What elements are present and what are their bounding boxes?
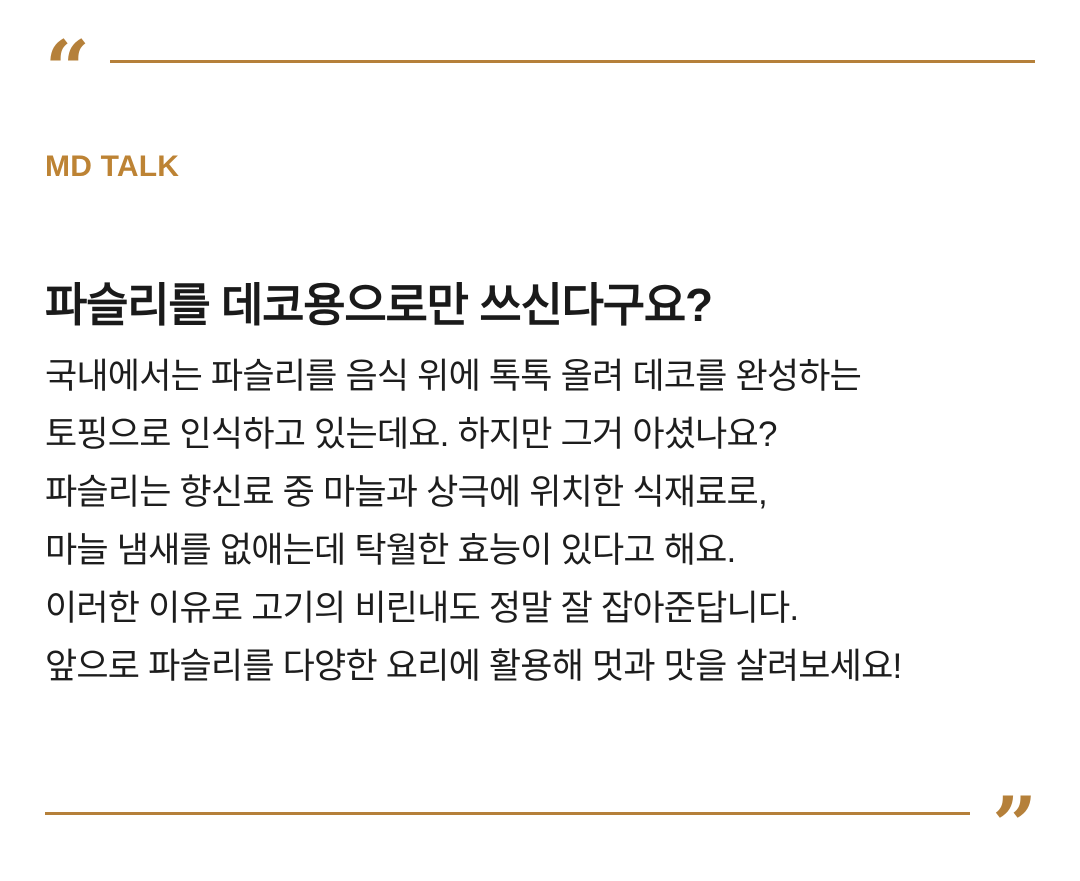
body-line: 마늘 냄새를 없애는데 탁월한 효능이 있다고 해요.	[45, 522, 1045, 580]
body-line: 국내에서는 파슬리를 음식 위에 톡톡 올려 데코를 완성하는	[45, 348, 1045, 406]
body-line: 토핑으로 인식하고 있는데요. 하지만 그거 아셨나요?	[45, 406, 1045, 464]
body-line: 파슬리는 향신료 중 마늘과 상극에 위치한 식재료로,	[45, 464, 1045, 522]
top-divider-line	[110, 60, 1035, 63]
bottom-divider-line	[45, 812, 970, 815]
bottom-divider-row: ”	[45, 790, 1035, 836]
body-line: 앞으로 파슬리를 다양한 요리에 활용해 멋과 맛을 살려보세요!	[45, 638, 1045, 696]
page-title: 파슬리를 데코용으로만 쓰신다구요?	[45, 269, 712, 335]
body-copy: 국내에서는 파슬리를 음식 위에 톡톡 올려 데코를 완성하는 토핑으로 인식하…	[45, 348, 1045, 696]
close-quote-icon: ”	[992, 805, 1035, 848]
section-eyebrow-label: MD TALK	[45, 150, 179, 184]
top-divider-row: “	[45, 38, 1035, 84]
body-line: 이러한 이유로 고기의 비린내도 정말 잘 잡아준답니다.	[45, 580, 1045, 638]
md-talk-card: “ MD TALK 파슬리를 데코용으로만 쓰신다구요? 국내에서는 파슬리를 …	[0, 0, 1080, 881]
open-quote-icon: “	[45, 49, 88, 92]
